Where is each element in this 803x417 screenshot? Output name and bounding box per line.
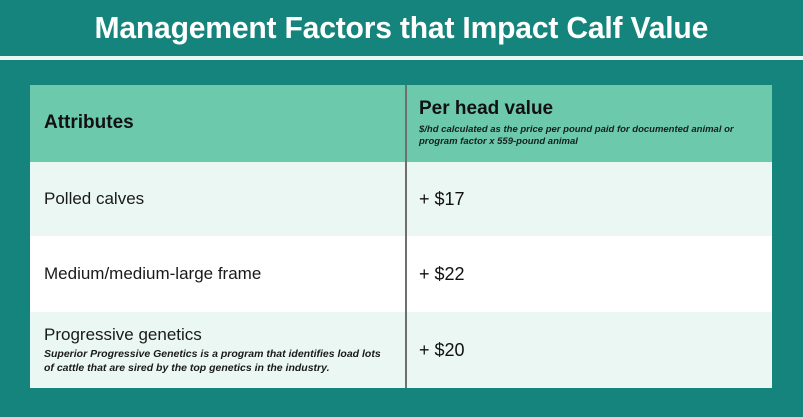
per-head-value: + $17 (419, 189, 772, 210)
cell-value: + $17 (405, 162, 772, 236)
header-note-per-head-value: $/hd calculated as the price per pound p… (419, 124, 761, 149)
calf-value-table: Attributes Per head value $/hd calculate… (30, 85, 772, 388)
cell-value: + $20 (405, 312, 772, 388)
header-cell-attributes: Attributes (30, 85, 405, 162)
page-title-band: Management Factors that Impact Calf Valu… (0, 0, 803, 56)
attribute-name: Medium/medium-large frame (44, 264, 405, 284)
header-cell-per-head-value: Per head value $/hd calculated as the pr… (405, 85, 772, 162)
header-label-attributes: Attributes (44, 113, 405, 134)
attribute-description: Superior Progressive Genetics is a progr… (44, 347, 389, 375)
cell-attribute: Medium/medium-large frame (30, 236, 405, 312)
table-header-row: Attributes Per head value $/hd calculate… (30, 85, 772, 162)
table-row: Medium/medium-large frame + $22 (30, 236, 772, 312)
attribute-name: Progressive genetics (44, 325, 405, 345)
table-column-divider (405, 85, 407, 388)
per-head-value: + $22 (419, 264, 772, 285)
title-divider-rule (0, 56, 803, 60)
per-head-value: + $20 (419, 340, 772, 361)
attribute-name: Polled calves (44, 189, 405, 209)
page-title: Management Factors that Impact Calf Valu… (95, 10, 709, 46)
cell-value: + $22 (405, 236, 772, 312)
cell-attribute: Progressive genetics Superior Progressiv… (30, 312, 405, 388)
table-row: Polled calves + $17 (30, 162, 772, 236)
cell-attribute: Polled calves (30, 162, 405, 236)
table-row: Progressive genetics Superior Progressiv… (30, 312, 772, 388)
header-label-per-head-value: Per head value (419, 99, 772, 120)
